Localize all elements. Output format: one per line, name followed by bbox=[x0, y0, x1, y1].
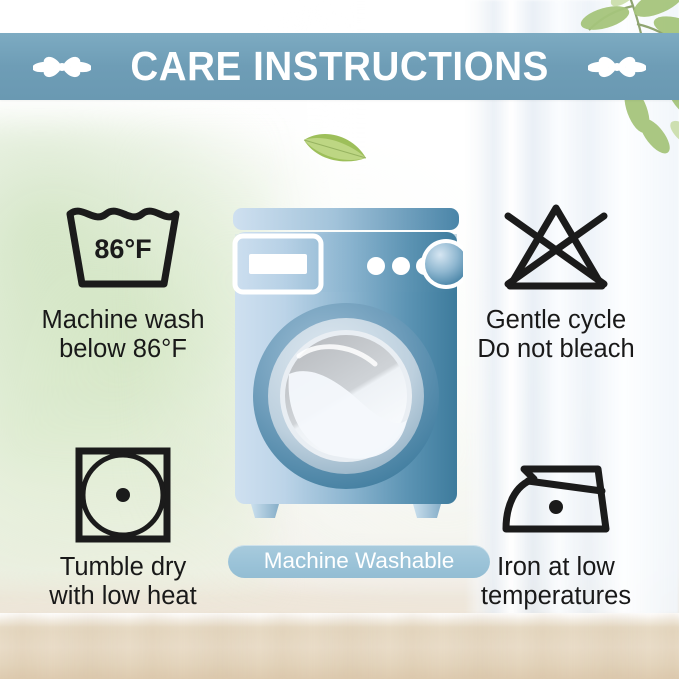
care-symbol-machine-wash: 86°F Machine wash below 86°F bbox=[8, 196, 238, 364]
care-symbol-tumble-dry-low: Tumble dry with low heat bbox=[8, 443, 238, 611]
fleur-de-lis-right-icon bbox=[588, 47, 646, 87]
care-symbol-iron-low: Iron at low temperatures bbox=[441, 443, 671, 611]
iron-icon bbox=[494, 451, 618, 539]
tumble-dry-square-circle-icon bbox=[73, 445, 173, 545]
washing-machine-illustration bbox=[229, 206, 463, 536]
care-symbol-caption: Iron at low temperatures bbox=[481, 553, 631, 611]
background-table-grain bbox=[0, 613, 679, 679]
header-banner: CARE INSTRUCTIONS bbox=[0, 33, 679, 100]
care-symbol-caption: Gentle cycle Do not bleach bbox=[477, 306, 634, 364]
care-instructions-infographic: CARE INSTRUCTIONS 86°F Machine wash belo… bbox=[0, 0, 679, 679]
wash-tub-icon-wrap: 86°F bbox=[60, 196, 186, 300]
care-symbol-caption: Machine wash below 86°F bbox=[42, 306, 205, 364]
crossed-triangle-no-bleach-icon-wrap bbox=[496, 196, 616, 300]
washer-drawer-handle bbox=[249, 254, 307, 274]
washer-control-button bbox=[367, 257, 385, 275]
tumble-dry-icon-wrap bbox=[73, 443, 173, 547]
floating-leaf-icon bbox=[300, 124, 370, 168]
machine-washable-badge-label: Machine Washable bbox=[264, 550, 455, 573]
wash-tub-icon: 86°F bbox=[60, 200, 186, 296]
washer-foot bbox=[251, 504, 279, 518]
iron-icon-wrap bbox=[494, 443, 618, 547]
page-title: CARE INSTRUCTIONS bbox=[130, 46, 549, 87]
care-symbol-gentle-cycle-no-bleach: Gentle cycle Do not bleach bbox=[441, 196, 671, 364]
crossed-triangle-no-bleach-icon bbox=[496, 200, 616, 296]
fleur-de-lis-left-icon bbox=[33, 47, 91, 87]
machine-washable-badge: Machine Washable bbox=[228, 545, 490, 578]
washer-lid bbox=[233, 208, 459, 230]
care-symbol-caption: Tumble dry with low heat bbox=[49, 553, 196, 611]
wash-temperature-value: 86°F bbox=[94, 234, 151, 264]
washer-control-button bbox=[392, 257, 410, 275]
washer-foot bbox=[413, 504, 441, 518]
